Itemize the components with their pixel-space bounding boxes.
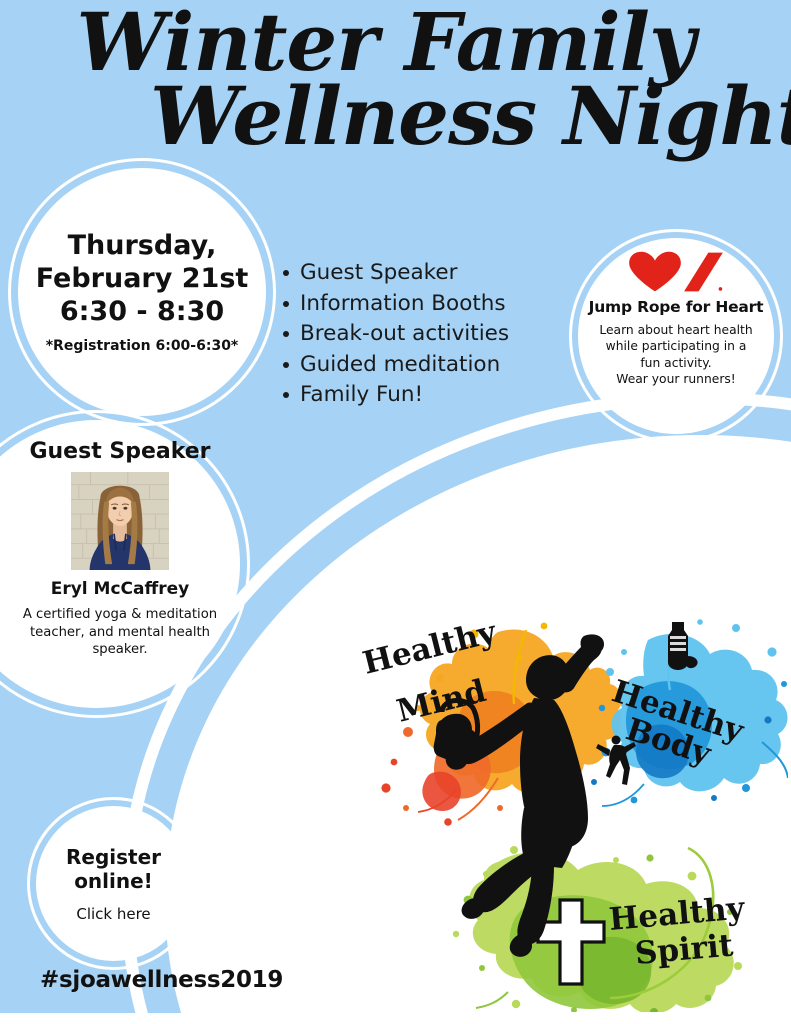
jump-rope-desc-line-1: Learn about heart health — [592, 322, 760, 338]
jump-rope-desc-line-3: fun activity. — [592, 355, 760, 371]
date-time: 6:30 - 8:30 — [60, 296, 224, 329]
jump-rope-content: Jump Rope for Heart Learn about heart he… — [578, 238, 774, 434]
guest-speaker-bio: A certified yoga & meditation teacher, a… — [0, 606, 229, 659]
date-date: February 21st — [36, 263, 249, 296]
guest-speaker-content: Guest Speaker — [0, 420, 240, 708]
heart-slash-icon — [627, 251, 725, 293]
jump-rope-desc-line-2: while participating in a — [592, 338, 760, 354]
date-day: Thursday, — [68, 230, 217, 263]
jump-rope-title: Jump Rope for Heart — [589, 298, 764, 316]
speaker-portrait-image — [71, 472, 169, 570]
list-item: Guest Speaker — [300, 258, 548, 289]
list-item: Family Fun! — [300, 380, 548, 411]
jump-rope-description: Learn about heart health while participa… — [592, 322, 760, 387]
list-item: Guided meditation — [300, 350, 548, 381]
register-content[interactable]: Register online! Click here — [36, 806, 191, 961]
guest-speaker-bio-line-2: teacher, and mental health — [11, 624, 229, 642]
register-link[interactable]: Click here — [76, 905, 150, 923]
date-circle-content: Thursday, February 21st 6:30 - 8:30 *Reg… — [18, 168, 266, 416]
bottom-white-strip — [0, 1013, 791, 1024]
list-item: Break-out activities — [300, 319, 548, 350]
poster-canvas: Winter Family Wellness Night Thursday, F… — [0, 0, 791, 1024]
healthy-mind-body-spirit-graphic: Healthy Mind Healthy Body Healthy Spirit — [348, 612, 788, 1012]
avatar — [23, 472, 169, 570]
jump-rope-desc-line-4: Wear your runners! — [592, 371, 760, 387]
guest-speaker-heading: Guest Speaker — [0, 439, 211, 464]
guest-speaker-bio-line-1: A certified yoga & meditation — [11, 606, 229, 624]
register-label-line-2: online! — [74, 869, 153, 893]
hashtag-text: #sjoawellness2019 — [40, 967, 283, 993]
list-item: Information Booths — [300, 289, 548, 320]
guest-speaker-bio-line-3: speaker. — [11, 641, 229, 659]
register-label-line-1: Register — [66, 845, 161, 869]
guest-speaker-name: Eryl McCaffrey — [3, 579, 190, 599]
activities-list: Guest Speaker Information Booths Break-o… — [278, 258, 548, 411]
registration-note: *Registration 6:00-6:30* — [46, 338, 239, 354]
